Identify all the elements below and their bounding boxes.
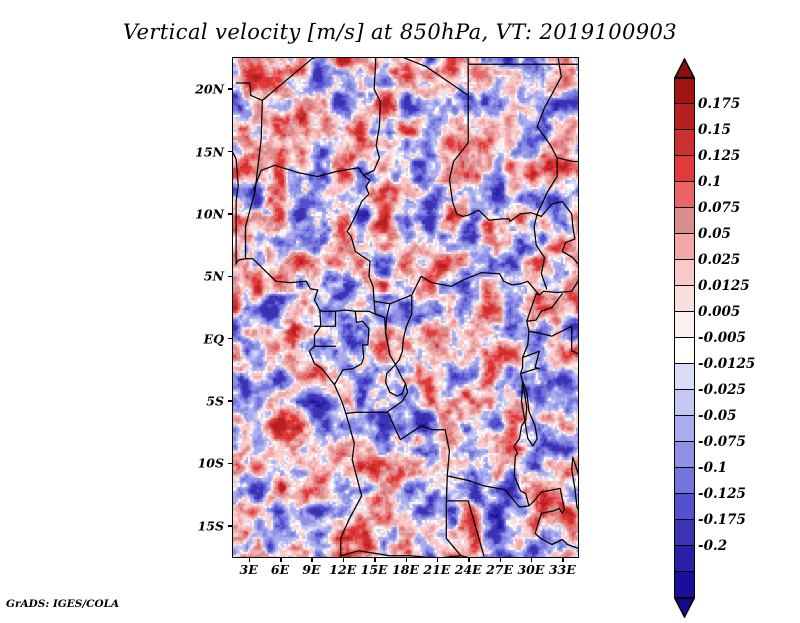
country-borders-overlay <box>233 58 578 557</box>
colorbar-swatch <box>674 572 695 598</box>
colorbar-swatch <box>674 234 695 260</box>
colorbar-swatch <box>674 208 695 234</box>
country-border-path <box>534 58 561 289</box>
country-border-path <box>514 294 539 506</box>
x-axis-tick-label: 9E <box>302 562 320 577</box>
y-axis-tick-label: 10N <box>195 206 224 221</box>
colorbar-swatch <box>674 416 695 442</box>
colorbar-tick-label: 0.0125 <box>698 278 750 294</box>
y-axis-tick <box>228 151 233 153</box>
country-border-path <box>246 165 408 413</box>
country-border-path <box>446 501 484 556</box>
y-axis-tick <box>228 463 233 465</box>
country-border-path <box>374 273 539 304</box>
y-axis-tick <box>228 213 233 215</box>
colorbar-swatch <box>674 546 695 572</box>
colorbar <box>674 78 695 598</box>
country-border-path <box>572 457 578 518</box>
y-axis-tick-label: 5S <box>206 394 224 409</box>
country-border-path <box>246 259 362 556</box>
y-axis-tick <box>228 88 233 90</box>
y-axis-tick-label: 10S <box>198 456 224 471</box>
map-plot-area <box>233 58 578 557</box>
country-border-path <box>320 310 356 311</box>
country-border-path <box>364 58 381 175</box>
x-axis-tick-label: 3E <box>240 562 258 577</box>
colorbar-swatch <box>674 260 695 286</box>
country-border-path <box>376 58 509 220</box>
colorbar-swatch <box>674 442 695 468</box>
colorbar-tick-label: 0.125 <box>698 148 740 164</box>
country-border-path <box>388 412 450 476</box>
country-border-path <box>355 311 384 317</box>
y-axis-tick-label: 5N <box>204 269 224 284</box>
country-border-path <box>468 58 479 64</box>
colorbar-tick-label: 0.05 <box>698 226 731 242</box>
colorbar-swatch <box>674 78 695 104</box>
country-border-path <box>527 294 563 321</box>
country-border-path <box>446 476 529 556</box>
country-border-path <box>557 158 578 162</box>
colorbar-tick-label: -0.05 <box>698 408 736 424</box>
colorbar-tick-label: 0.075 <box>698 200 740 216</box>
x-axis-tick-label: 24E <box>455 562 482 577</box>
x-axis-tick-label: 33E <box>549 562 576 577</box>
page-title: Vertical velocity [m/s] at 850hPa, VT: 2… <box>0 20 800 44</box>
colorbar-swatch <box>674 338 695 364</box>
colorbar-tick-label: 0.15 <box>698 122 731 138</box>
colorbar-swatch <box>674 390 695 416</box>
country-border-path <box>262 58 376 100</box>
colorbar-tick-label: -0.025 <box>698 382 746 398</box>
attribution-footer: GrADS: IGES/COLA <box>6 598 119 610</box>
colorbar-swatch <box>674 130 695 156</box>
country-border-path <box>315 311 336 326</box>
country-border-path <box>334 311 369 385</box>
country-border-path <box>468 64 578 95</box>
x-axis-tick-label: 21E <box>423 562 450 577</box>
colorbar-tick-label: 0.175 <box>698 96 740 112</box>
x-axis-tick-label: 6E <box>271 562 289 577</box>
colorbar-tick-label: 0.1 <box>698 174 722 190</box>
colorbar-swatch <box>674 468 695 494</box>
y-axis-tick-label: 15S <box>198 518 224 533</box>
country-border-path <box>386 304 390 355</box>
colorbar-swatch <box>674 156 695 182</box>
x-axis-tick-label: 30E <box>517 562 544 577</box>
y-axis-tick-label: 15N <box>195 144 224 159</box>
colorbar-tick-label: -0.0125 <box>698 356 755 372</box>
x-axis-tick-label: 15E <box>361 562 388 577</box>
colorbar-swatch <box>674 104 695 130</box>
colorbar-tick-label: 0.025 <box>698 252 740 268</box>
y-axis-tick <box>228 400 233 402</box>
colorbar-tick-label: -0.075 <box>698 434 746 450</box>
colorbar-swatch <box>674 364 695 390</box>
y-axis-tick <box>228 525 233 527</box>
country-border-path <box>386 295 412 396</box>
colorbar-tick-label: -0.175 <box>698 512 746 528</box>
colorbar-tick-label: -0.125 <box>698 486 746 502</box>
colorbar-swatch <box>674 182 695 208</box>
y-axis-tick <box>228 276 233 278</box>
y-axis-tick-label: EQ <box>204 331 224 346</box>
colorbar-min-arrow <box>674 598 695 618</box>
country-border-path <box>236 259 245 264</box>
colorbar-tick-label: -0.005 <box>698 330 746 346</box>
x-axis-tick-label: 12E <box>329 562 356 577</box>
x-axis-tick-label: 18E <box>392 562 419 577</box>
colorbar-swatch <box>674 312 695 338</box>
y-axis-tick-label: 20N <box>195 82 224 97</box>
colorbar-tick-label: 0.005 <box>698 304 740 320</box>
country-border-path <box>529 326 578 354</box>
country-border-path <box>236 83 262 192</box>
country-border-path <box>233 153 238 264</box>
country-border-path <box>529 488 578 548</box>
colorbar-tick-label: -0.2 <box>698 538 727 554</box>
x-axis-tick-label: 27E <box>486 562 513 577</box>
colorbar-tick-label: -0.1 <box>698 460 727 476</box>
colorbar-swatch <box>674 494 695 520</box>
colorbar-swatch <box>674 520 695 546</box>
country-border-path <box>341 551 482 557</box>
colorbar-max-arrow <box>674 58 695 78</box>
y-axis-tick <box>228 338 233 340</box>
colorbar-swatch <box>674 286 695 312</box>
